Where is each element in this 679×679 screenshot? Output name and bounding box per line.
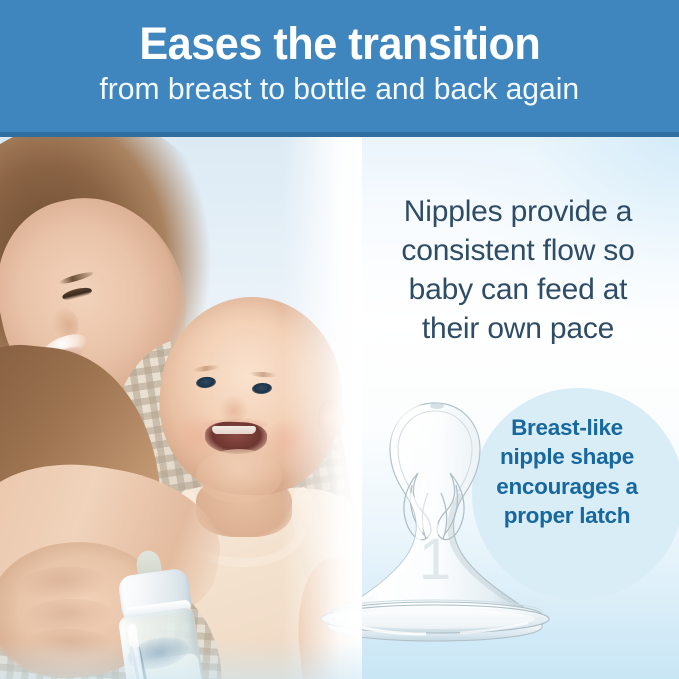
nipple-vent-hole — [430, 403, 444, 409]
callout-line-2: nipple shape — [482, 442, 652, 471]
body-copy-line-4: their own pace — [358, 309, 678, 348]
body-copy-line-2: consistent flow so — [358, 231, 678, 270]
callout-line-1: Breast-like — [482, 413, 652, 442]
lifestyle-photo — [0, 137, 362, 679]
callout-line-3: encourages a — [482, 472, 652, 501]
flow-level-marking: 1 — [419, 527, 451, 592]
body-copy: Nipples provide a consistent flow so bab… — [358, 192, 678, 348]
headline: Eases the transition — [139, 21, 540, 67]
photo-bottom-fade — [0, 639, 362, 679]
nipple-base-flange-inner — [335, 609, 535, 629]
nipple-dome-highlight — [388, 405, 456, 469]
subheadline: from breast to bottle and back again — [100, 73, 580, 106]
body-copy-line-1: Nipples provide a — [358, 192, 678, 231]
photo-right-fade — [282, 137, 362, 679]
callout-text: Breast-like nipple shape encourages a pr… — [482, 413, 652, 530]
callout-line-4: proper latch — [482, 501, 652, 530]
baby-teeth — [212, 426, 256, 434]
body-copy-line-3: baby can feed at — [358, 270, 678, 309]
baby-chin — [196, 449, 282, 503]
product-marketing-image: Eases the transition from breast to bott… — [0, 0, 679, 679]
header-banner: Eases the transition from breast to bott… — [0, 0, 679, 132]
